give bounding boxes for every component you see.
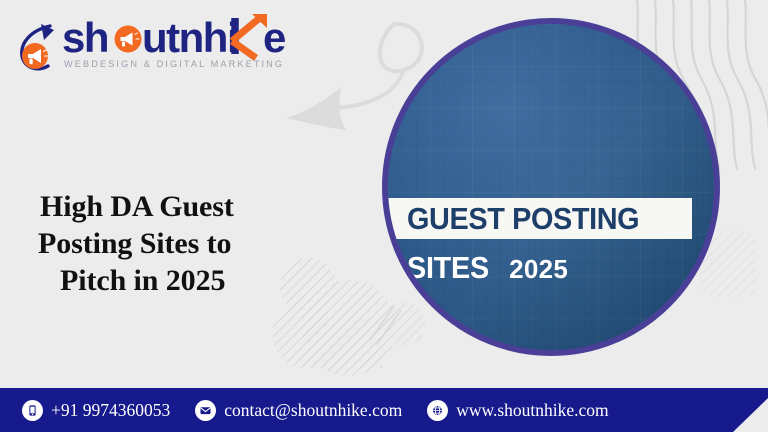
headline-line-2: Posting Sites to (38, 225, 338, 262)
contact-phone-text: +91 9974360053 (51, 400, 170, 421)
svg-text:e: e (263, 14, 285, 61)
guest-posting-label: GUEST POSTING (407, 201, 639, 237)
logo-wordmark: sh utnhi e (62, 14, 307, 62)
sites-year-row: SITES 2025 (407, 250, 568, 286)
logo-tagline: WEBDESIGN & DIGITAL MARKETING (64, 59, 284, 69)
poster-canvas: sh utnhi e WEBDESIGN & DIGITAL MARKETING… (0, 0, 768, 432)
mobile-phone-icon (22, 400, 43, 421)
headline-line-1: High DA Guest (38, 188, 338, 225)
logo-arrow-megaphone-icon (14, 18, 66, 74)
contact-footer-bar: +91 9974360053 contact@shoutnhike.com (0, 388, 768, 432)
headline-line-3: Pitch in 2025 (38, 262, 338, 299)
circle-vignette (388, 24, 714, 350)
year-label: 2025 (509, 254, 568, 285)
svg-text:utnhi: utnhi (142, 14, 237, 61)
sites-label: SITES (407, 250, 489, 286)
contact-email[interactable]: contact@shoutnhike.com (195, 400, 402, 421)
hero-circle-graphic: GUEST POSTING SITES 2025 (382, 18, 720, 356)
brand-logo[interactable]: sh utnhi e WEBDESIGN & DIGITAL MARKETING (14, 14, 304, 80)
contact-website-text: www.shoutnhike.com (456, 400, 608, 421)
contact-email-text: contact@shoutnhike.com (224, 400, 402, 421)
guest-posting-band: GUEST POSTING (388, 198, 692, 239)
contact-website[interactable]: www.shoutnhike.com (427, 400, 608, 421)
envelope-icon (195, 400, 216, 421)
page-title: High DA Guest Posting Sites to Pitch in … (38, 188, 338, 300)
globe-icon (427, 400, 448, 421)
svg-text:sh: sh (62, 14, 108, 61)
contact-phone[interactable]: +91 9974360053 (22, 400, 170, 421)
